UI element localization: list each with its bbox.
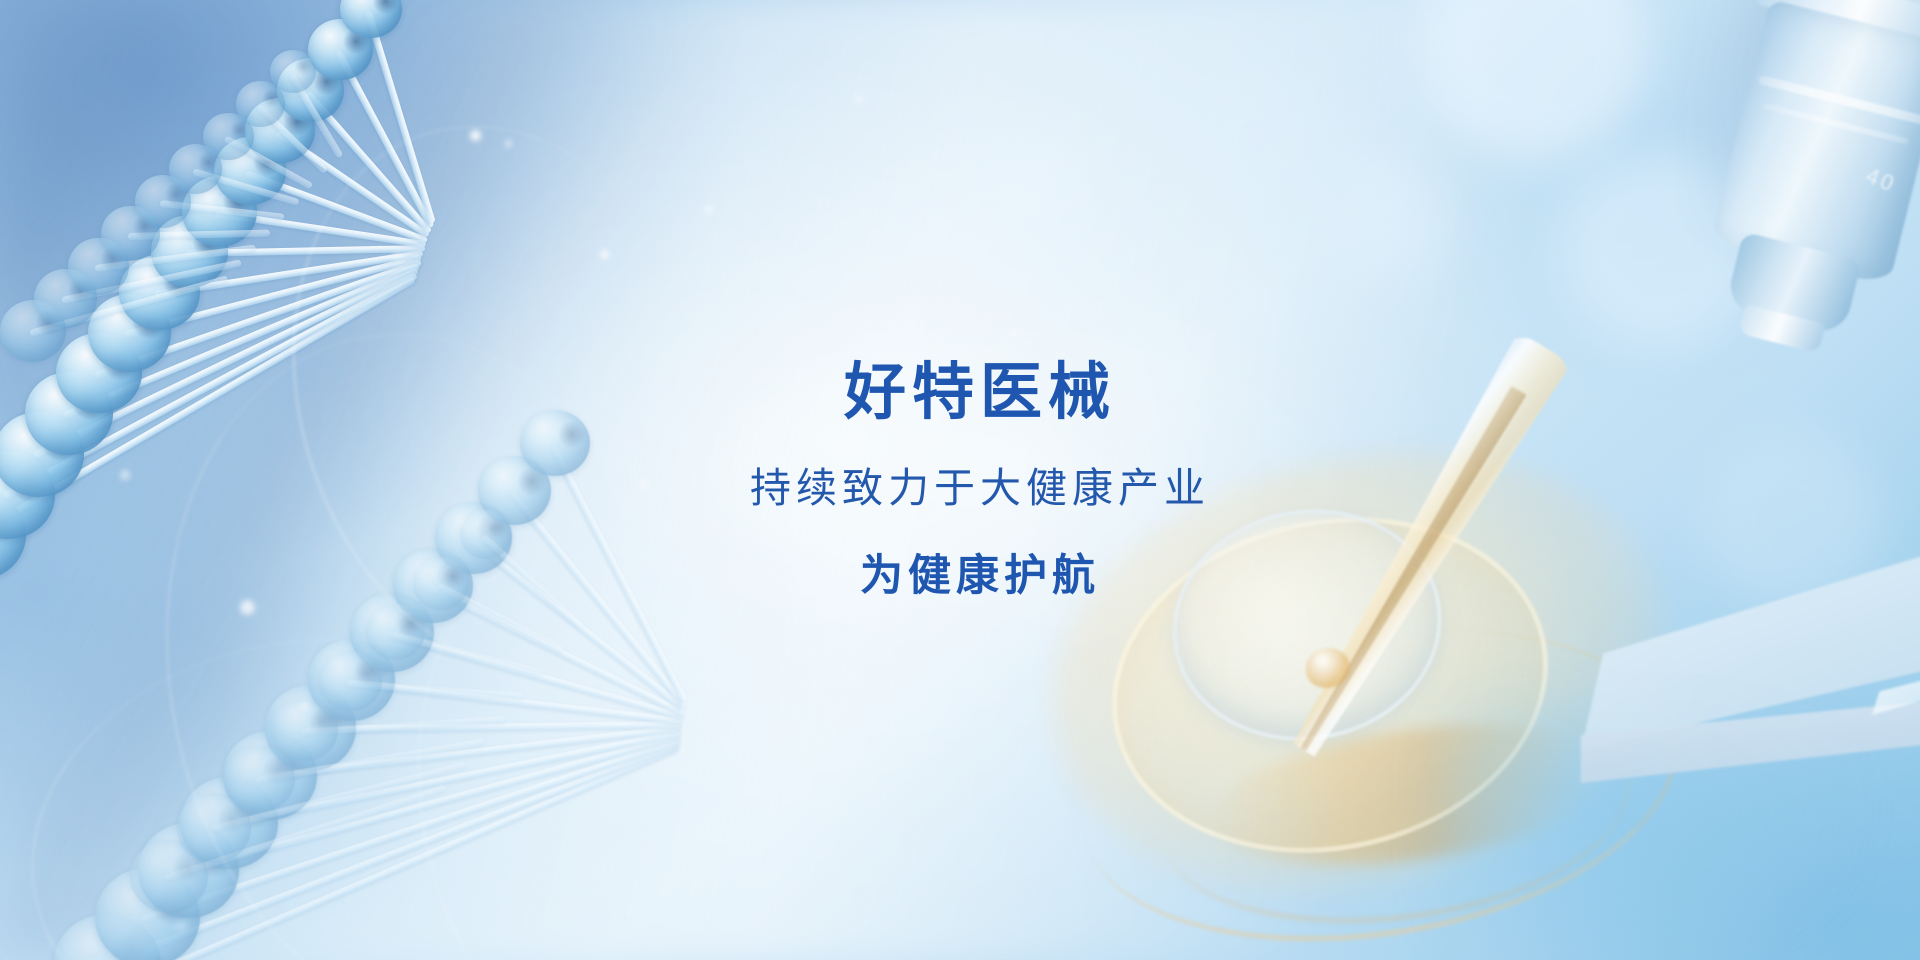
microscope-stage bbox=[1480, 520, 1920, 940]
dna-node bbox=[270, 50, 316, 93]
hero-banner: 40 好特医械 持续致力于大健康产业 为健康护航 bbox=[0, 0, 1920, 960]
